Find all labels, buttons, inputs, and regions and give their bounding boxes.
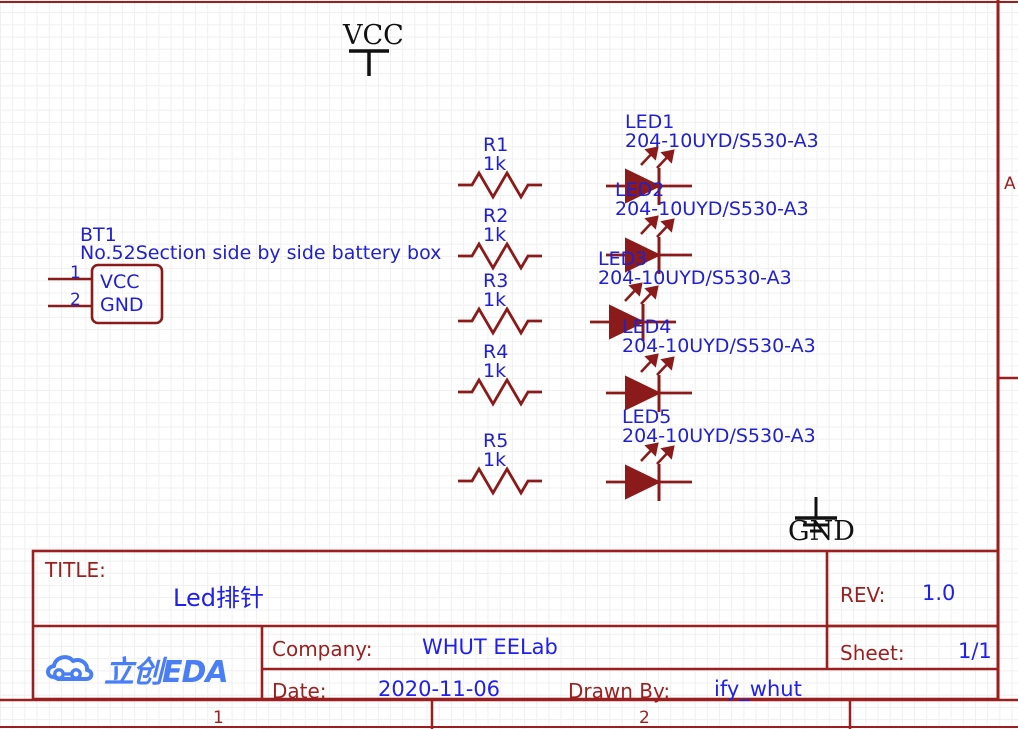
led-part-led5: 204-10UYD/S530-A3 [622, 427, 816, 446]
resistor-symbol-r5 [458, 469, 542, 493]
resistor-value-r4: 1k [483, 362, 506, 381]
drawn-by-value: ify_whut [714, 677, 802, 701]
logo-text: 立创EDA [104, 658, 228, 688]
battery-description: No.52Section side by side battery box [80, 244, 441, 263]
battery-pin-1-number: 1 [70, 265, 81, 282]
company-value: WHUT EELab [422, 635, 558, 659]
resistor-symbol-r2 [458, 244, 542, 268]
border-column-2: 2 [639, 708, 650, 728]
resistor-value-r2: 1k [483, 226, 506, 245]
led-part-led4: 204-10UYD/S530-A3 [622, 337, 816, 356]
title-label: TITLE: [45, 558, 106, 582]
net-label-vcc: VCC [343, 22, 404, 49]
battery-pin-2-number: 2 [70, 292, 81, 309]
rev-label: REV: [840, 583, 885, 607]
resistor-value-r3: 1k [483, 291, 506, 310]
led-part-led2: 204-10UYD/S530-A3 [615, 200, 809, 219]
led-part-led1: 204-10UYD/S530-A3 [625, 132, 819, 151]
sheet-border [0, 0, 1018, 729]
resistor-symbol-r3 [458, 309, 542, 333]
border-column-1: 1 [213, 708, 224, 728]
schematic-graphics-layer [0, 0, 1018, 729]
date-value: 2020-11-06 [378, 677, 500, 701]
drawn-by-label: Drawn By: [568, 679, 670, 703]
net-label-gnd: GND [788, 518, 855, 545]
resistor-value-r5: 1k [483, 451, 506, 470]
schematic-canvas: VCC GND BT1 No.52Section side by side ba… [0, 0, 1018, 729]
rev-value: 1.0 [922, 581, 955, 605]
resistor-symbol-r1 [458, 173, 542, 197]
battery-pin-2-name: GND [100, 296, 144, 315]
vcc-power-symbol [349, 51, 389, 76]
sheet-label: Sheet: [840, 641, 905, 665]
date-label: Date: [272, 679, 327, 703]
led-part-led3: 204-10UYD/S530-A3 [598, 269, 792, 288]
led-symbol-led4 [606, 355, 692, 412]
sheet-value: 1/1 [958, 639, 992, 663]
border-row-a: A [1004, 174, 1016, 194]
resistor-value-r1: 1k [483, 155, 506, 174]
company-label: Company: [272, 637, 372, 661]
lceda-logo: 立创EDA [44, 652, 254, 694]
led-symbol-led5 [606, 444, 692, 501]
title-value: Led排针 [173, 578, 264, 613]
battery-pin-1-name: VCC [100, 273, 140, 292]
resistor-symbol-r4 [458, 380, 542, 404]
